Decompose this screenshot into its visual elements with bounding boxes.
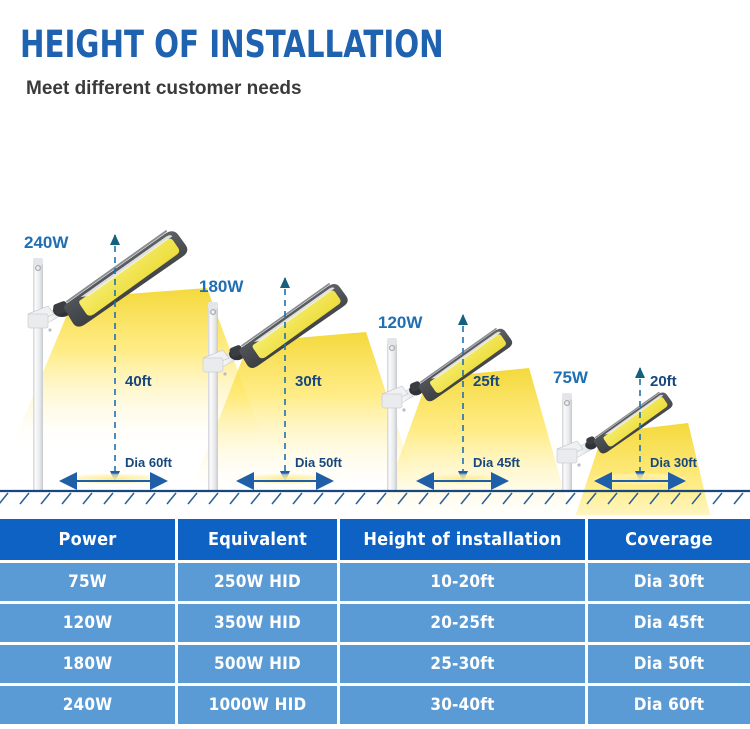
table-header-row: Power Equivalent Height of installation … [0, 519, 750, 560]
ground-light-pool [412, 473, 513, 485]
height-arrow-up-icon [635, 367, 645, 378]
ground-hatch-mark [167, 493, 176, 504]
cell-equivalent: 350W HID [178, 604, 340, 642]
height-value-label: 25ft [473, 373, 500, 390]
table-row: 180W 500W HID 25-30ft Dia 50ft [0, 645, 750, 683]
ground-light-pool [590, 473, 690, 485]
pole-cap [33, 258, 43, 265]
cell-coverage: Dia 45ft [588, 604, 750, 642]
bracket-bolt-icon [223, 372, 226, 375]
table-row: 120W 350W HID 20-25ft Dia 45ft [0, 604, 750, 642]
table-header-power: Power [0, 519, 178, 560]
height-value-label: 20ft [650, 373, 677, 390]
lamp-pole [387, 342, 397, 491]
cell-height: 20-25ft [340, 604, 588, 642]
coverage-label: Dia 45ft [473, 455, 521, 470]
table-row: 75W 250W HID 10-20ft Dia 30ft [0, 563, 750, 601]
header: HEIGHT OF INSTALLATION Meet different cu… [0, 0, 750, 115]
bracket-body [203, 358, 223, 372]
table-row: 240W 1000W HID 30-40ft Dia 60ft [0, 686, 750, 724]
height-arrow-up-icon [458, 314, 468, 325]
power-label: 75W [553, 368, 589, 387]
cell-equivalent: 500W HID [178, 645, 340, 683]
height-value-label: 30ft [295, 373, 322, 390]
cell-power: 180W [0, 645, 178, 683]
ground-hatch-mark [0, 493, 8, 504]
bracket-bolt-icon [402, 408, 405, 411]
ground-hatch-mark [41, 493, 50, 504]
ground-hatch-mark [146, 493, 155, 504]
cell-coverage: Dia 30ft [588, 563, 750, 601]
cell-coverage: Dia 60ft [588, 686, 750, 724]
cell-power: 120W [0, 604, 178, 642]
cell-height: 30-40ft [340, 686, 588, 724]
table-header-equivalent: Equivalent [178, 519, 340, 560]
table-header-coverage: Coverage [588, 519, 750, 560]
diagram-canvas: 240W40ftDia 60ft180W30ftDia 50ft120W25ft… [0, 110, 750, 515]
coverage-label: Dia 30ft [650, 455, 698, 470]
pole-cap [562, 393, 572, 400]
bracket-bolt-icon [577, 463, 580, 466]
ground-hatch-mark [734, 493, 743, 504]
power-label: 180W [199, 277, 244, 296]
cell-power: 240W [0, 686, 178, 724]
power-label: 120W [378, 313, 423, 332]
height-arrow-up-icon [110, 234, 120, 245]
cell-equivalent: 1000W HID [178, 686, 340, 724]
ground-hatch-mark [125, 493, 134, 504]
height-arrow-up-icon [280, 277, 290, 288]
cell-power: 75W [0, 563, 178, 601]
page-title: HEIGHT OF INSTALLATION [20, 25, 444, 65]
pole-cap [208, 302, 218, 309]
lamp-pole [208, 306, 218, 491]
cell-height: 25-30ft [340, 645, 588, 683]
cell-coverage: Dia 50ft [588, 645, 750, 683]
table-header-height: Height of installation [340, 519, 588, 560]
ground-light-pool [55, 473, 172, 485]
spec-table: Power Equivalent Height of installation … [0, 519, 750, 729]
pole-cap [387, 338, 397, 345]
ground-hatch-mark [566, 493, 575, 504]
cell-equivalent: 250W HID [178, 563, 340, 601]
power-label: 240W [24, 233, 69, 252]
coverage-label: Dia 60ft [125, 455, 173, 470]
bracket-body [28, 314, 48, 328]
height-value-label: 40ft [125, 373, 152, 390]
bracket-bolt-icon [48, 328, 51, 331]
bracket-body [382, 394, 402, 408]
ground-hatch-mark [104, 493, 113, 504]
bracket-body [557, 449, 577, 463]
infographic-root: HEIGHT OF INSTALLATION Meet different cu… [0, 0, 750, 729]
page-subtitle: Meet different customer needs [26, 78, 302, 100]
installation-diagram: 240W40ftDia 60ft180W30ftDia 50ft120W25ft… [0, 110, 750, 515]
ground-hatch-mark [83, 493, 92, 504]
ground-hatch-mark [713, 493, 722, 504]
coverage-label: Dia 50ft [295, 455, 343, 470]
ground-hatch-mark [62, 493, 71, 504]
ground-light-pool [232, 473, 338, 485]
lamp-pole [33, 262, 43, 491]
cell-height: 10-20ft [340, 563, 588, 601]
ground-hatch-mark [20, 493, 29, 504]
